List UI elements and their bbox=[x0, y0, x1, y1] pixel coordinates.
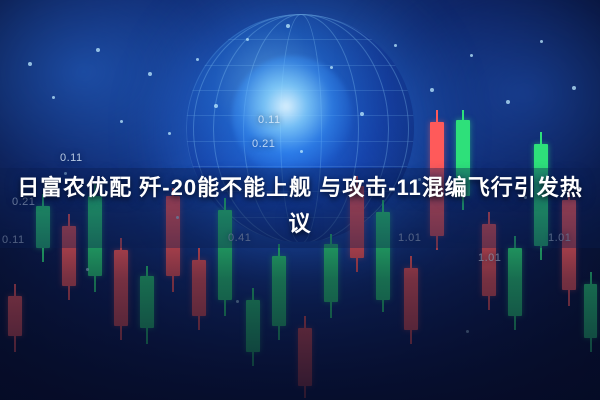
headline-text: 日富农优配 歼-20能不能上舰 与攻击-11混编飞行引发热议 bbox=[0, 170, 600, 242]
news-thumbnail-image: 0.110.210.110.210.110.411.011.011.01 日富农… bbox=[0, 0, 600, 400]
price-label: 0.11 bbox=[60, 152, 83, 164]
price-label: 0.11 bbox=[258, 114, 281, 126]
price-label: 0.21 bbox=[252, 138, 275, 150]
